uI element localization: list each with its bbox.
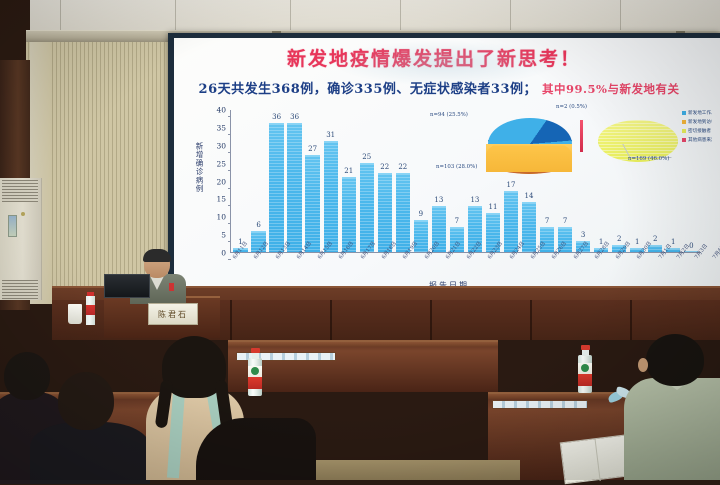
bar [287,123,301,252]
audience-person-center-front [196,418,316,480]
panel-seam-3 [430,300,432,340]
wall-stripe [96,42,97,304]
bar-value-label: 13 [466,196,483,204]
presenter-name: 陈君石 [158,309,188,320]
wall-stripe [68,42,69,304]
bar-value-label: 7 [557,217,574,225]
legend-swatch [682,120,686,124]
y-tick-label: 40 [216,106,226,115]
paper-cup-icon [68,304,82,324]
bar-item: 22 [394,109,411,252]
wall-stripe [100,42,101,304]
pie-slice-yellow [598,120,678,178]
bar-value-label: 14 [521,192,538,200]
ceiling-tile-seam [510,0,511,34]
bar-value-label: 31 [322,131,339,139]
bar-value-label: 9 [412,210,429,218]
bar-item: 22 [376,109,393,252]
slide-title: 新发地疫情爆发提出了新思考！ [174,44,694,71]
bar [504,191,518,252]
audience-person-left [40,372,136,480]
y-tick-label: 5 [221,231,226,240]
bar-item: 6 [250,109,267,252]
ceiling [0,0,720,34]
y-tick [228,241,231,242]
bar-item: 27 [304,109,321,252]
bar-item: 1 [232,109,249,252]
bar [360,163,374,252]
bar-item: 31 [322,109,339,252]
bar [269,123,283,252]
legend-label: 其他病患来源 [688,137,712,143]
ceiling-tile-seam [620,0,621,34]
wall-stripe [108,42,109,304]
bar-value-label: 25 [358,153,375,161]
y-tick [228,223,231,224]
bar-value-label: 7 [448,217,465,225]
y-axis-title: 新增确诊病例 [194,142,205,193]
ac-grill-top [2,180,38,202]
wall-stripe [56,42,57,304]
wall-stripe [80,42,81,304]
source-pie-chart: n=94 (25.5%) n=103 (28.0%) n=169 (46.0%)… [430,108,700,186]
y-tick [228,188,231,189]
pie-slice-orange [486,138,572,186]
y-tick [228,134,231,135]
legend-row: 密切接触者 [682,126,712,135]
y-tick [228,116,231,117]
y-tick-label: 15 [216,195,226,204]
water-bottle-icon-right [578,345,592,393]
y-tick-label: 10 [216,213,226,222]
bar-item: 36 [268,109,285,252]
presenter-nameplate: 陈君石 [148,303,198,325]
bar-value-label: 36 [268,113,285,121]
slide-subtitle: 26天共发生368例，确诊335例、无症状感染者33例； 其中99.5%与新发地… [174,78,704,97]
bar [378,173,392,252]
bar-item: 21 [340,109,357,252]
pie-label-orange: n=103 (28.0%) [436,164,477,170]
slide-subtitle-main: 26天共发生368例，确诊335例、无症状感染者33例； [199,82,537,97]
y-tick-label: 25 [216,159,226,168]
audience-desk-middle [228,340,498,392]
legend-label: 新发地到访者 [688,119,712,125]
wall-stripe [72,42,73,304]
wall-stripe [64,42,65,304]
ceiling-tile-seam [60,0,61,34]
wall-stripe [112,42,113,304]
panel-seam-4 [530,300,532,340]
water-bottle-icon-middle [248,348,262,396]
legend-label: 新发地工作人员 [688,110,712,116]
water-bottle-icon-podium [86,292,95,325]
wall-stripe [52,42,53,304]
ac-control-panel [8,215,17,237]
wall-stripe [60,42,61,304]
legend-swatch [682,129,686,133]
legend-row: 新发地到访者 [682,117,712,126]
y-tick-label: 0 [221,249,226,258]
y-tick [228,205,231,206]
legend-label: 密切接触者 [688,128,711,134]
ceiling-tile-seam [290,0,291,34]
wall-stripe [92,42,93,304]
wall-stripe [104,42,105,304]
ceiling-tile-seam [400,0,401,34]
pie-label-yellow: n=169 (46.0%) [628,156,669,162]
pie-label-blue: n=94 (25.5%) [430,112,468,118]
slide-subtitle-highlight: 其中99.5%与新发地有关 [542,82,679,96]
ceiling-tile-seam [175,0,176,34]
ac-indicator-light [21,212,25,216]
y-tick-label: 30 [216,141,226,150]
legend-row: 其他病患来源 [682,135,712,144]
panel-seam-5 [630,300,632,340]
legend-row: 新发地工作人员 [682,108,712,117]
bar-value-label: 21 [340,167,357,175]
desk-light-strip-right [492,400,588,409]
bar [396,173,410,252]
wall-stripe [120,42,121,304]
wall-stripe [116,42,117,304]
bar-value-label: 22 [394,163,411,171]
y-tick-label: 35 [216,123,226,132]
legend-swatch [682,138,686,142]
bar [305,155,319,252]
conference-room-scene: 新发地疫情爆发提出了新思考！ 26天共发生368例，确诊335例、无症状感染者3… [0,0,720,480]
y-tick [228,152,231,153]
bar-value-label: 6 [250,221,267,229]
y-axis-tick-labels: 0510152025303540 [208,110,226,253]
pie-slice-pink [580,120,583,152]
laptop-icon [104,274,152,302]
y-tick-label: 20 [216,177,226,186]
bar-item: 36 [286,109,303,252]
panel-seam-1 [230,300,232,340]
wall-stripe [76,42,77,304]
panel-seam-2 [330,300,332,340]
legend-swatch [682,111,686,115]
bar [324,141,338,252]
bar-value-label: 3 [575,231,592,239]
pie-label-pink: n=2 (0.5%) [556,104,587,110]
bar-item: 9 [412,109,429,252]
bar-item: 25 [358,109,375,252]
y-tick [228,170,231,171]
wall-stripe [84,42,85,304]
bar-value-label: 13 [430,196,447,204]
wall-stripe [88,42,89,304]
bar-value-label: 7 [539,217,556,225]
pie-legend: 新发地工作人员新发地到访者密切接触者其他病患来源 [682,108,712,144]
bar-value-label: 27 [304,145,321,153]
bar-value-label: 36 [286,113,303,121]
bar-value-label: 22 [376,163,393,171]
audience-person-right [636,334,720,480]
ac-grill-bottom [2,280,38,300]
bar-value-label: 11 [484,203,501,211]
